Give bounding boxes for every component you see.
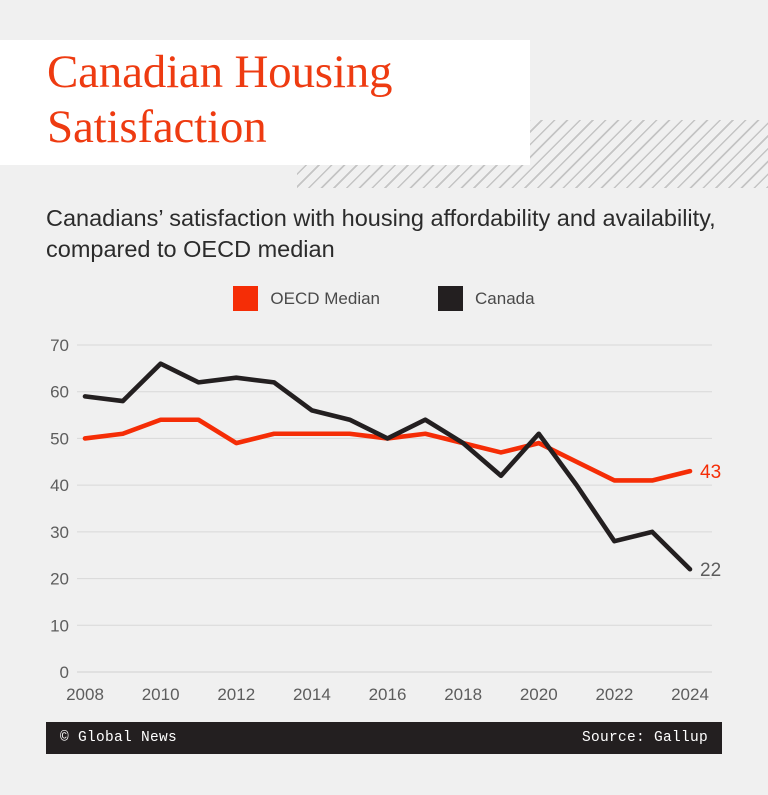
title-band: Canadian Housing Satisfaction bbox=[0, 40, 530, 165]
x-tick-label: 2022 bbox=[595, 685, 633, 704]
legend-item-canada: Canada bbox=[438, 286, 535, 311]
y-tick-label: 20 bbox=[50, 570, 69, 589]
legend-label-canada: Canada bbox=[475, 289, 535, 309]
x-tick-label: 2016 bbox=[369, 685, 407, 704]
y-tick-label: 70 bbox=[50, 336, 69, 355]
series-line-canada bbox=[85, 364, 690, 570]
legend-item-oecd-median: OECD Median bbox=[233, 286, 380, 311]
y-tick-label: 10 bbox=[50, 616, 69, 635]
y-tick-label: 40 bbox=[50, 476, 69, 495]
series-line-oecd-median bbox=[85, 420, 690, 481]
footer-source: Source: Gallup bbox=[582, 730, 708, 746]
x-tick-label: 2020 bbox=[520, 685, 558, 704]
chart-legend: OECD Median Canada bbox=[0, 286, 768, 311]
footer-copyright: © Global News bbox=[60, 730, 177, 746]
x-tick-label: 2008 bbox=[66, 685, 104, 704]
footer-bar: © Global News Source: Gallup bbox=[46, 722, 722, 754]
x-tick-label: 2024 bbox=[671, 685, 709, 704]
legend-swatch-icon-canada bbox=[438, 286, 463, 311]
y-tick-label: 60 bbox=[50, 383, 69, 402]
legend-label-oecd-median: OECD Median bbox=[270, 289, 380, 309]
data-series bbox=[85, 364, 690, 570]
x-tick-label: 2010 bbox=[142, 685, 180, 704]
y-tick-label: 30 bbox=[50, 523, 69, 542]
chart-canvas: 010203040506070 200820102012201420162018… bbox=[0, 318, 768, 708]
x-tick-label: 2014 bbox=[293, 685, 331, 704]
page-title: Canadian Housing Satisfaction bbox=[47, 45, 517, 156]
page-title-line-2: Satisfaction bbox=[47, 100, 517, 155]
x-tick-label: 2012 bbox=[217, 685, 255, 704]
series-end-labels: 4322 bbox=[700, 462, 721, 581]
end-value-label-canada: 22 bbox=[700, 560, 721, 581]
x-tick-label: 2018 bbox=[444, 685, 482, 704]
chart-subtitle: Canadians’ satisfaction with housing aff… bbox=[46, 203, 726, 266]
x-axis-tick-labels: 200820102012201420162018202020222024 bbox=[66, 685, 709, 704]
y-tick-label: 0 bbox=[60, 663, 69, 682]
y-axis-tick-labels: 010203040506070 bbox=[50, 336, 69, 682]
legend-swatch-icon-oecd-median bbox=[233, 286, 258, 311]
y-tick-label: 50 bbox=[50, 429, 69, 448]
page-title-line-1: Canadian Housing bbox=[47, 45, 517, 100]
grid-lines bbox=[77, 345, 712, 672]
end-value-label-oecd-median: 43 bbox=[700, 462, 721, 483]
line-chart: 010203040506070 200820102012201420162018… bbox=[0, 318, 768, 708]
